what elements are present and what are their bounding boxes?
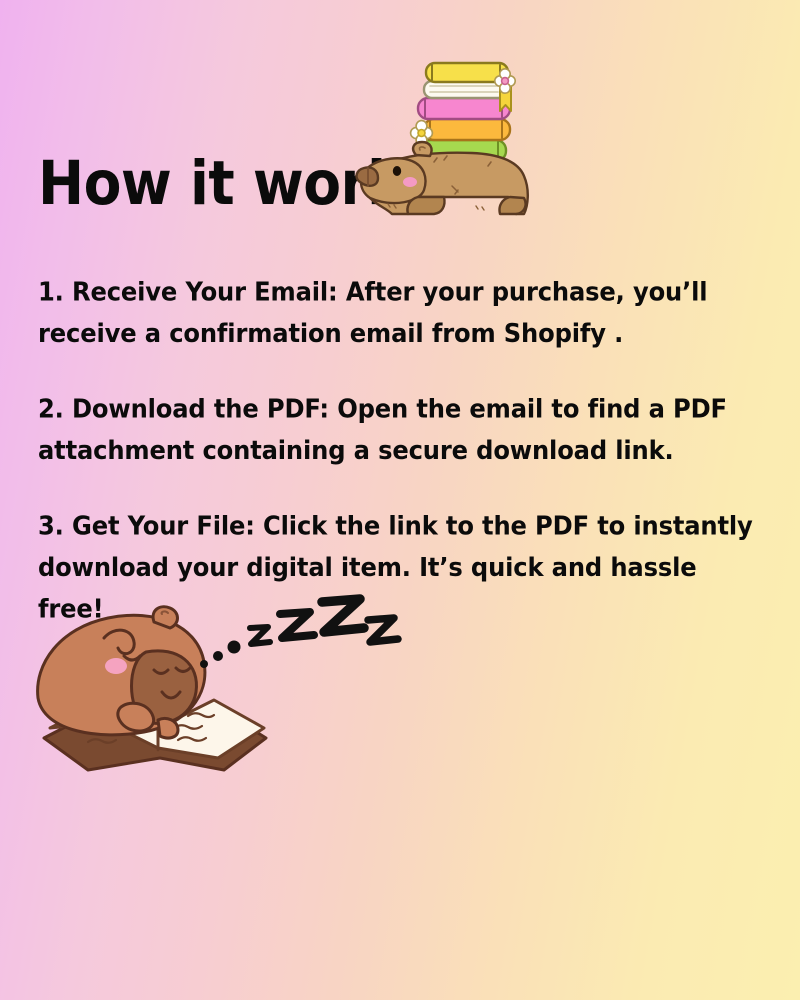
book-pink-icon <box>418 98 510 119</box>
sleeping-capybara-body <box>38 607 205 738</box>
zzz-glyph-3 <box>322 599 364 632</box>
book-white-icon <box>424 81 506 98</box>
zzz-dot-3 <box>228 641 241 654</box>
zzz-sleep-indicator <box>196 592 411 677</box>
zzz-glyph-1 <box>250 627 270 644</box>
zzz-dot-1 <box>200 660 208 668</box>
sleeping-capybara-blush <box>105 658 127 674</box>
poster-canvas: How it works <box>0 0 800 1000</box>
capybara-blush <box>403 177 417 187</box>
book-orange-icon <box>424 119 510 140</box>
capybara-eye <box>393 166 401 176</box>
steps-list: 1. Receive Your Email: After your purcha… <box>38 272 768 623</box>
zzz-dot-2 <box>213 651 223 661</box>
zzz-glyph-2 <box>280 612 314 638</box>
zzz-glyph-4 <box>368 618 398 642</box>
step-2: 2. Download the PDF: Open the email to f… <box>38 389 768 472</box>
capybara-with-books-illustration <box>348 58 548 243</box>
step-1: 1. Receive Your Email: After your purcha… <box>38 272 768 355</box>
